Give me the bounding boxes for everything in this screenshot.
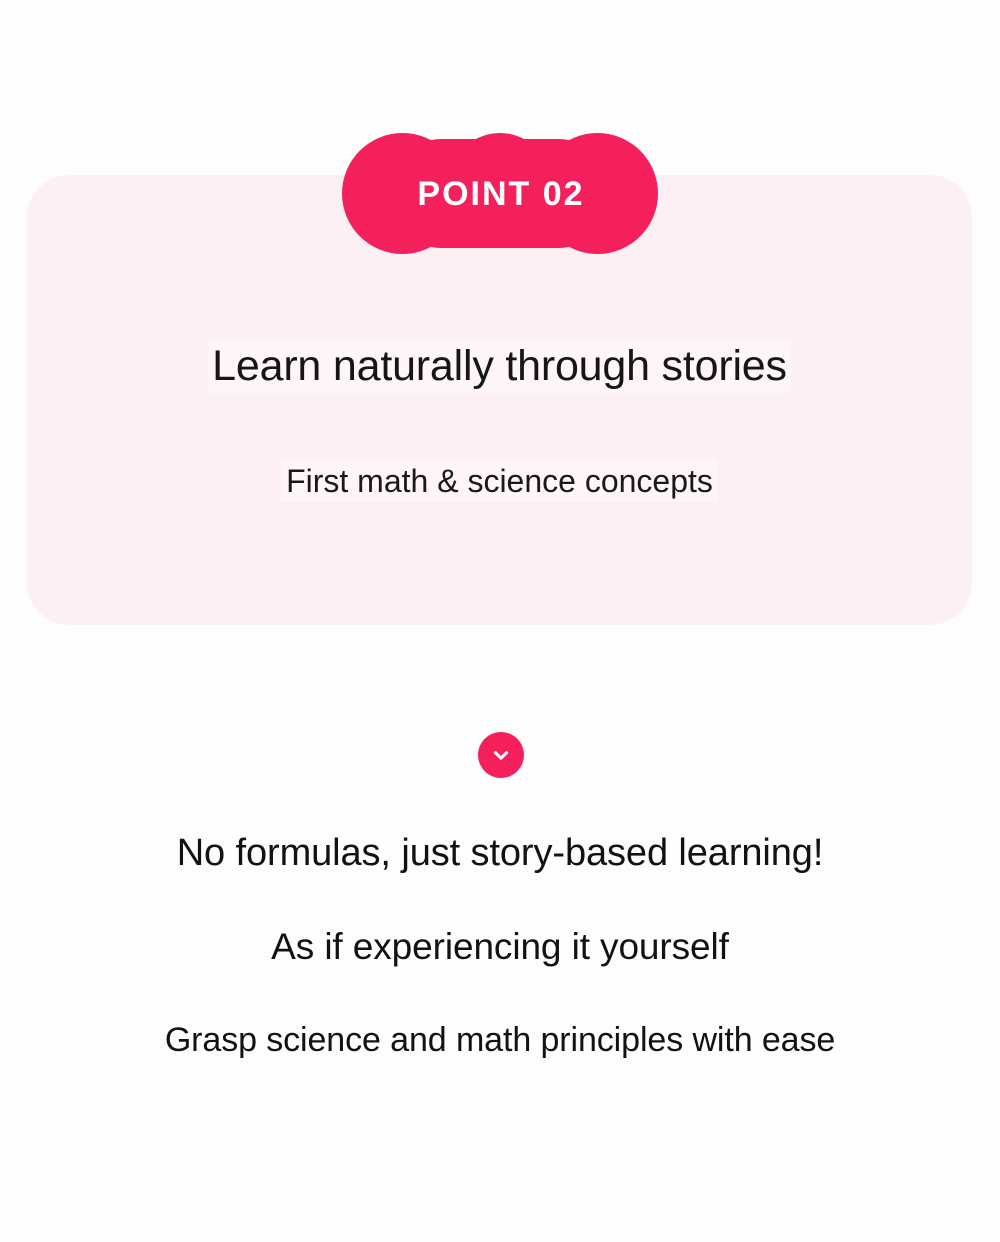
card-subtitle: First math & science concepts — [27, 462, 972, 500]
card-title-text: Learn naturally through stories — [208, 339, 791, 393]
point-badge-label: POINT 02 — [342, 133, 658, 254]
chevron-down-button[interactable] — [478, 732, 524, 778]
promo-section: POINT 02 Learn naturally through stories… — [0, 0, 1000, 1242]
benefit-line-3: Grasp science and math principles with e… — [0, 1020, 1000, 1061]
chevron-down-icon — [490, 744, 512, 766]
point-badge: POINT 02 — [342, 133, 658, 254]
card-subtitle-text: First math & science concepts — [281, 460, 718, 502]
benefit-line-1: No formulas, just story-based learning! — [0, 831, 1000, 877]
card-title: Learn naturally through stories — [27, 341, 972, 393]
benefit-line-2: As if experiencing it yourself — [0, 925, 1000, 969]
